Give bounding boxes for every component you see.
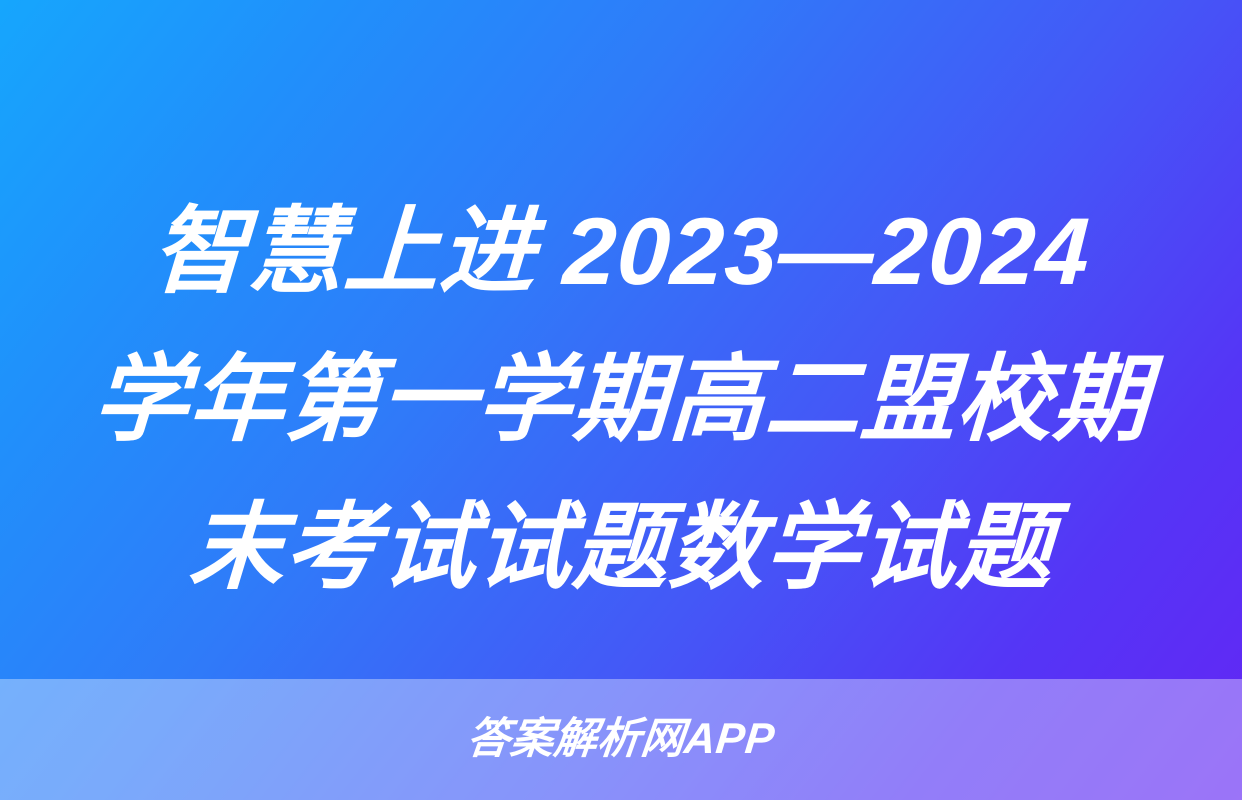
- footer-band: 答案解析网APP: [0, 679, 1242, 800]
- title-line-1: 智慧上进 2023—2024: [148, 178, 1094, 326]
- cover-canvas: 智慧上进 2023—2024 学年第一学期高二盟校期 末考试试题数学试题 答案解…: [0, 0, 1242, 800]
- title-line-2: 学年第一学期高二盟校期: [89, 326, 1153, 474]
- app-watermark-label: 答案解析网APP: [465, 718, 777, 761]
- title-block: 智慧上进 2023—2024 学年第一学期高二盟校期 末考试试题数学试题: [0, 178, 1242, 622]
- title-line-3: 末考试试题数学试题: [185, 474, 1057, 622]
